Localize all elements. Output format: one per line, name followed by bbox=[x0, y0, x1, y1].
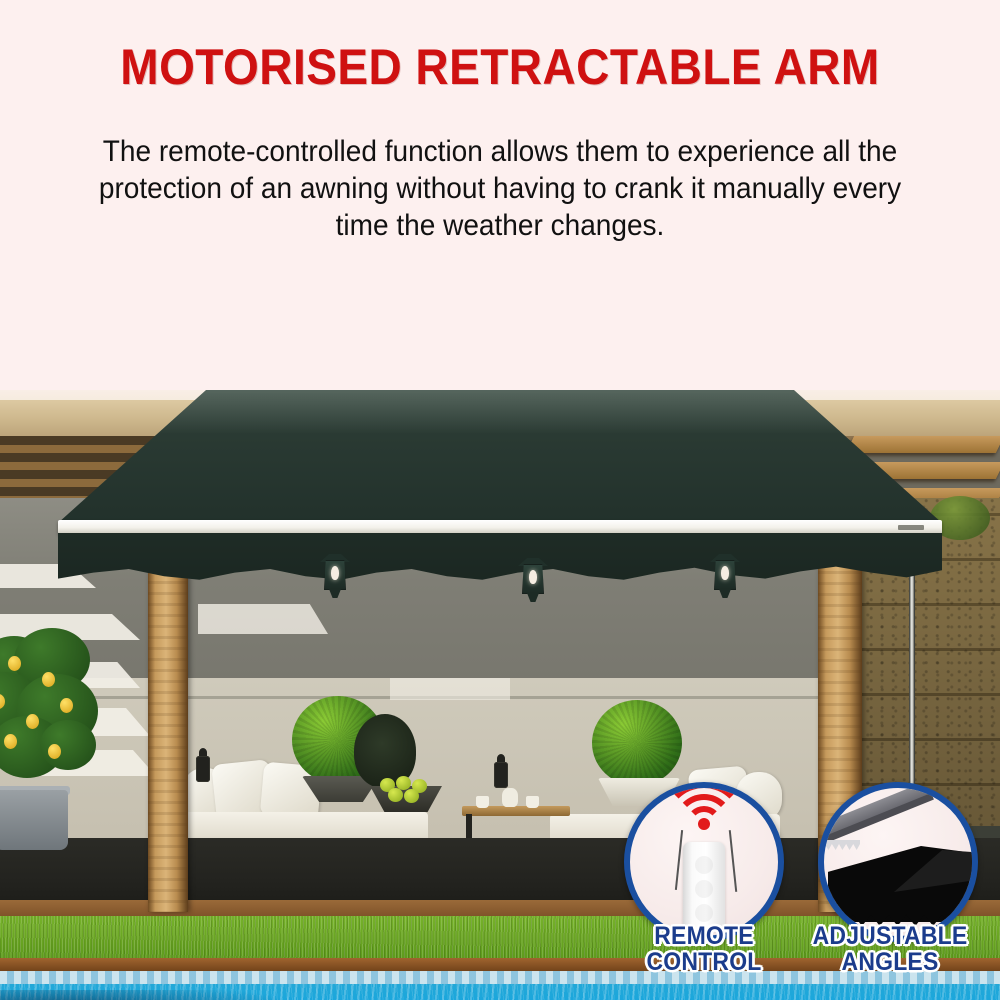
awning-angle-upper-scallop bbox=[818, 840, 860, 850]
badge-label-line1: REMOTE bbox=[623, 924, 785, 949]
signal-wave-icon bbox=[662, 782, 746, 866]
cup bbox=[526, 796, 539, 808]
floor-lantern bbox=[492, 754, 510, 796]
badge-remote-control[interactable]: REMOTE CONTROL bbox=[616, 782, 792, 982]
lemon bbox=[48, 744, 61, 759]
badge-adjustable-angles[interactable]: ADJUSTABLE ANGLES bbox=[792, 782, 988, 982]
planter-pot bbox=[0, 790, 68, 850]
lemon bbox=[8, 656, 21, 671]
product-feature-banner: MOTORISED RETRACTABLE ARM The remote-con… bbox=[0, 0, 1000, 1000]
awning-brand-mark bbox=[898, 525, 924, 530]
lemon bbox=[4, 734, 17, 749]
page-title: MOTORISED RETRACTABLE ARM bbox=[40, 38, 960, 96]
page-subtitle: The remote-controlled function allows th… bbox=[84, 133, 916, 244]
apple bbox=[388, 788, 403, 802]
lemon bbox=[60, 698, 73, 713]
awning-front-bar bbox=[58, 520, 942, 534]
wall-lantern bbox=[320, 554, 350, 602]
awning-canopy bbox=[58, 388, 942, 523]
lemon bbox=[26, 714, 39, 729]
topiary-ball bbox=[592, 700, 682, 786]
floor-lantern bbox=[194, 748, 212, 790]
header-section: MOTORISED RETRACTABLE ARM The remote-con… bbox=[0, 0, 1000, 390]
wall-lantern bbox=[518, 558, 548, 606]
badge-circle bbox=[624, 782, 784, 942]
badge-label-line1: ADJUSTABLE bbox=[800, 924, 980, 949]
badge-label-line2: ANGLES bbox=[800, 950, 980, 975]
wall-lantern bbox=[710, 554, 740, 602]
light-patch bbox=[198, 604, 328, 634]
pool-shadow bbox=[0, 990, 300, 1000]
lemon-tree bbox=[0, 628, 120, 798]
apple bbox=[404, 789, 419, 803]
cup bbox=[476, 796, 489, 808]
badge-label-line2: CONTROL bbox=[623, 950, 785, 975]
lemon bbox=[42, 672, 55, 687]
wood-post-left bbox=[148, 526, 188, 912]
light-patch bbox=[390, 678, 510, 700]
badge-circle bbox=[818, 782, 978, 942]
